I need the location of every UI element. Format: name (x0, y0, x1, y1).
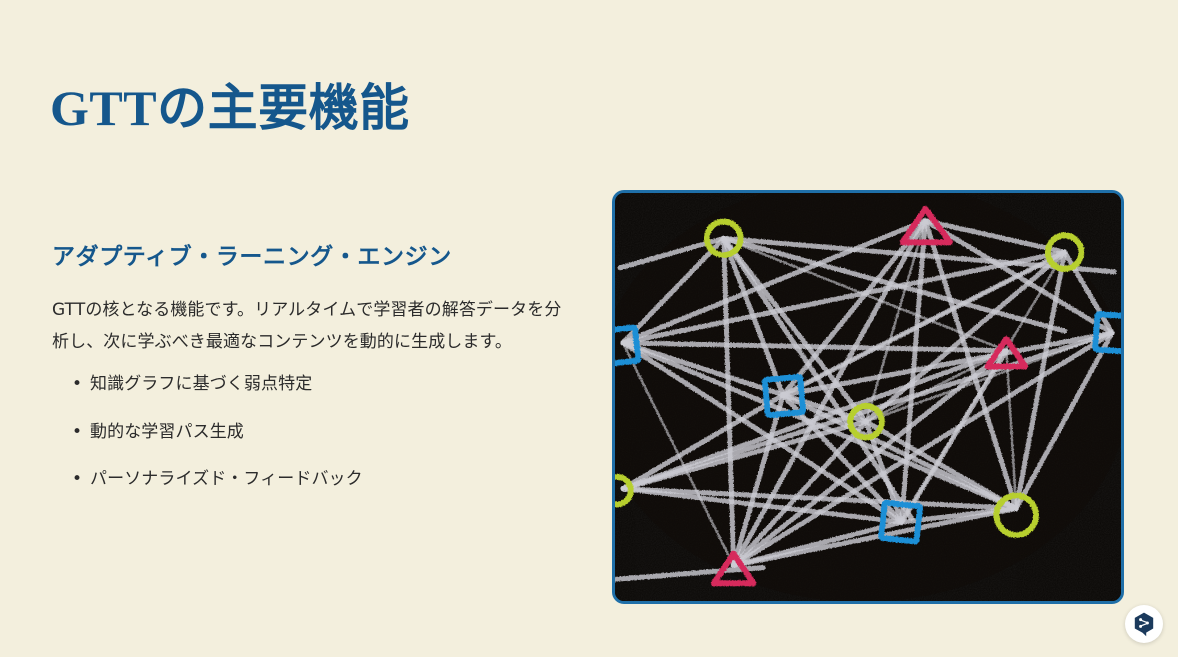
section-paragraph: GTTの核となる機能です。リアルタイムで学習者の解答データを分析し、次に学ぶべき… (52, 295, 562, 358)
gamma-logo-icon (1131, 611, 1157, 637)
page-title: GTTの主要機能 (50, 80, 410, 136)
list-item: 知識グラフに基づく弱点特定 (72, 372, 562, 398)
list-item: パーソナライズド・フィードバック (72, 467, 562, 493)
slide-root: GTTの主要機能 アダプティブ・ラーニング・エンジン GTTの核となる機能です。… (0, 0, 1178, 657)
gamma-logo-badge[interactable] (1125, 605, 1163, 643)
knowledge-graph-image (612, 190, 1124, 604)
feature-bullet-list: 知識グラフに基づく弱点特定 動的な学習パス生成 パーソナライズド・フィードバック (52, 372, 562, 493)
content-column: アダプティブ・ラーニング・エンジン GTTの核となる機能です。リアルタイムで学習… (52, 243, 562, 515)
list-item: 動的な学習パス生成 (72, 420, 562, 446)
section-heading: アダプティブ・ラーニング・エンジン (52, 243, 562, 273)
